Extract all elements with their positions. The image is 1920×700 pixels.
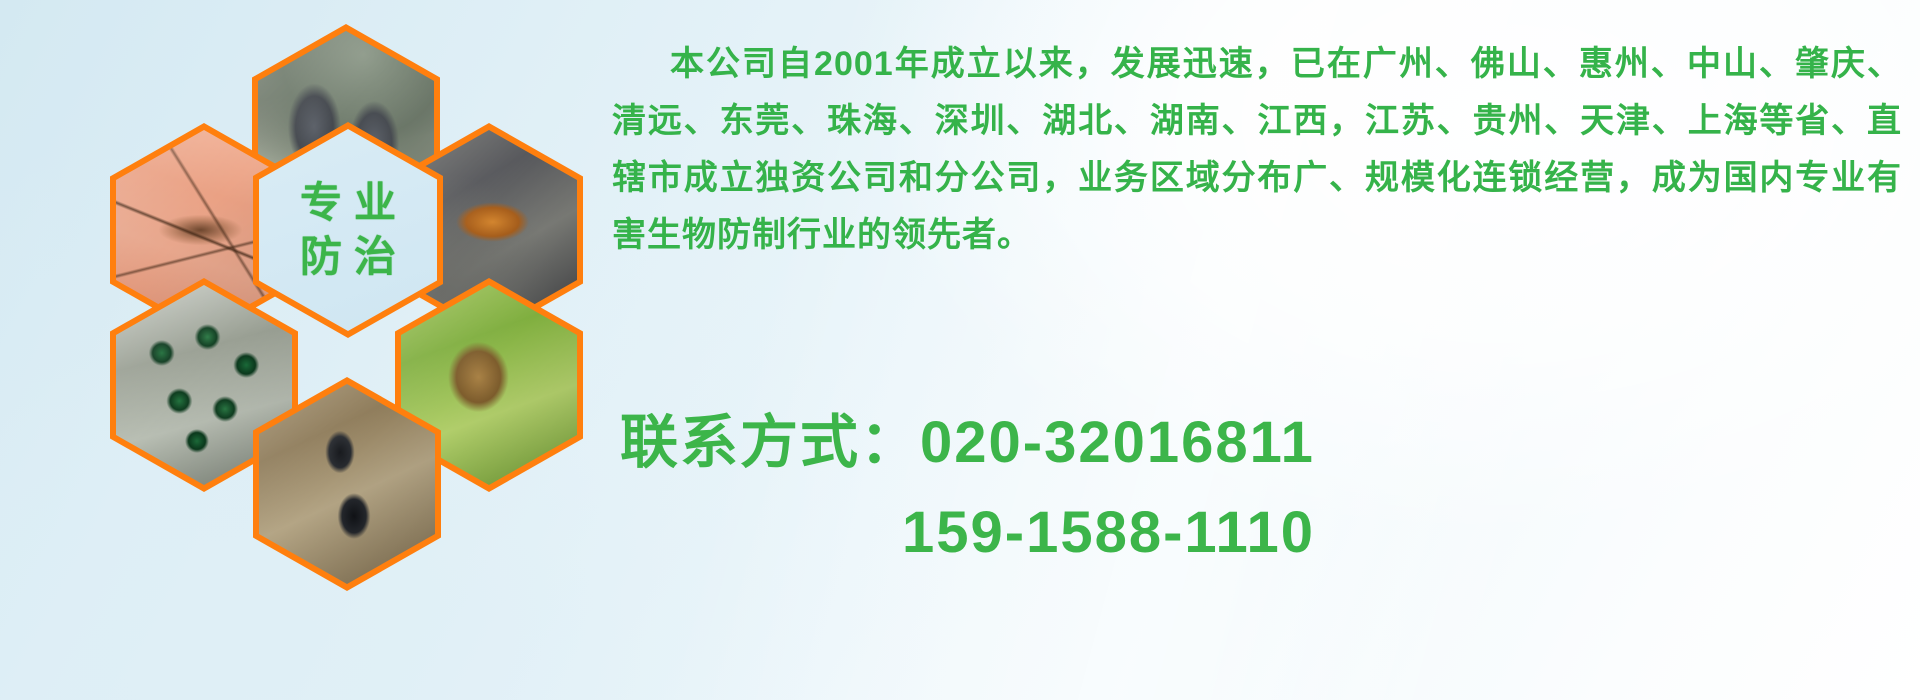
company-intro-paragraph: 本公司自2001年成立以来，发展迅速，已在广州、佛山、惠州、中山、肇庆、清远、东… bbox=[612, 36, 1902, 264]
hex-collage: 专业 防治 bbox=[90, 10, 590, 570]
contact-block: 联系方式：020-32016811 159-1588-1110 bbox=[620, 398, 1910, 578]
company-intro-block: 本公司自2001年成立以来，发展迅速，已在广州、佛山、惠州、中山、肇庆、清远、东… bbox=[612, 36, 1902, 264]
contact-line-primary[interactable]: 联系方式：020-32016811 bbox=[620, 398, 1910, 488]
promo-banner: 专业 防治 本公司自2001年成立以来，发 bbox=[0, 0, 1920, 700]
image-sheen bbox=[259, 384, 435, 584]
slogan-line-2: 防治 bbox=[288, 233, 408, 281]
contact-line-secondary[interactable]: 159-1588-1110 bbox=[620, 488, 1910, 578]
slogan-line-1: 专业 bbox=[288, 179, 408, 227]
